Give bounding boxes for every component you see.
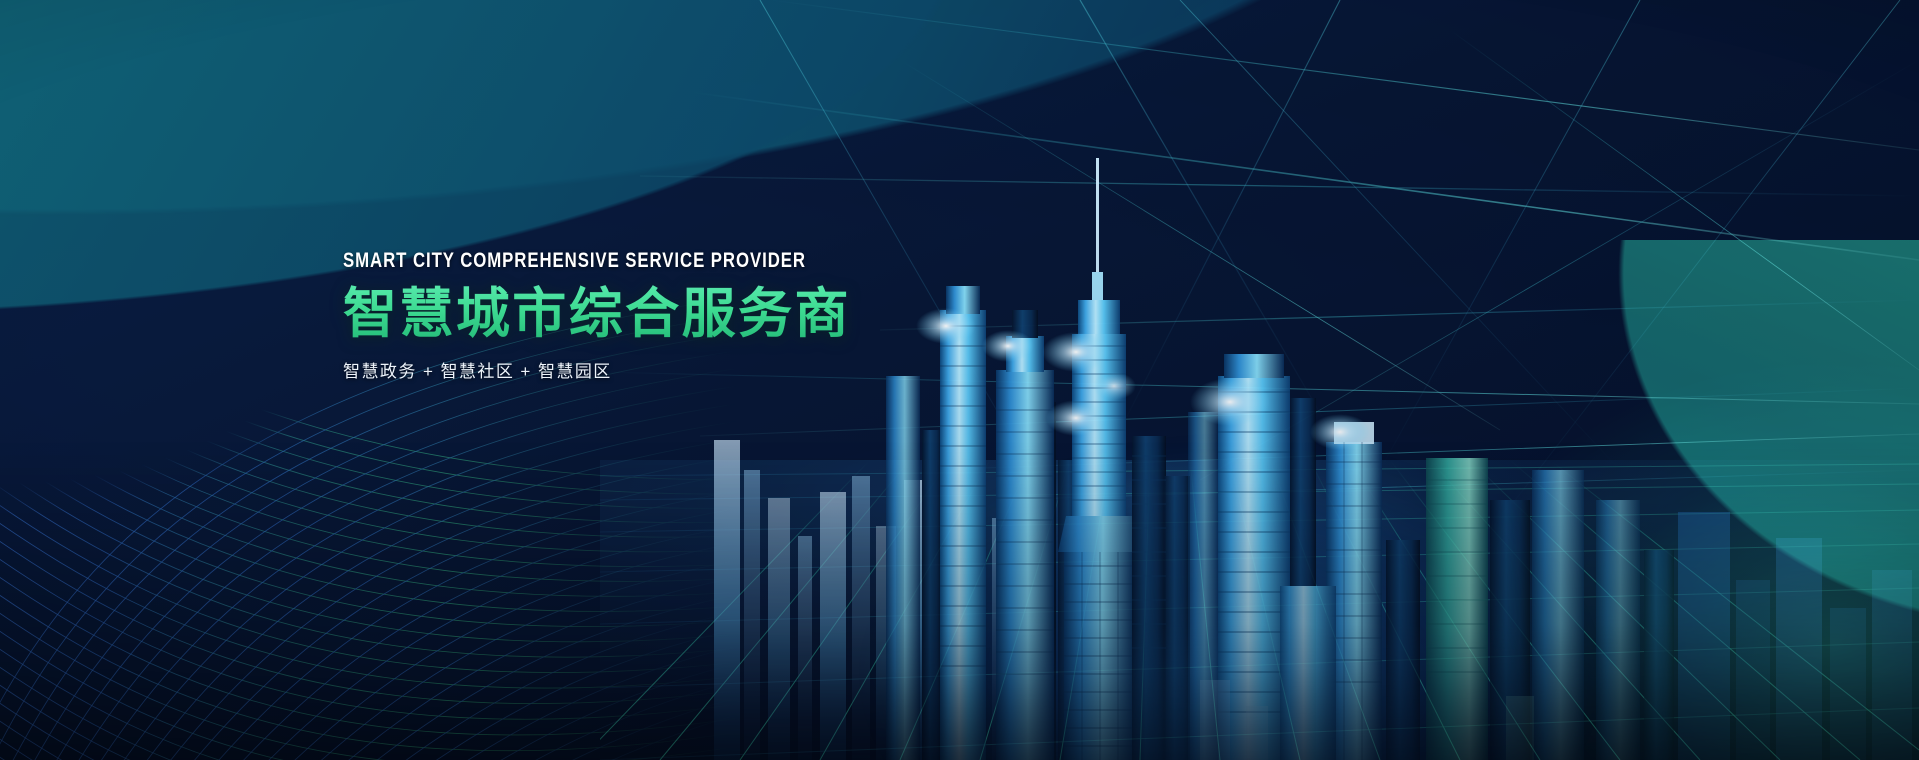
tower-spire-main [1042, 158, 1140, 760]
green-curve-overlay [1309, 240, 1919, 760]
hero-banner: SMART CITY COMPREHENSIVE SERVICE PROVIDE… [0, 0, 1919, 760]
hero-headline: 智慧城市综合服务商 [343, 284, 1103, 344]
hero-subtitle: 智慧政务 + 智慧社区 + 智慧园区 [343, 357, 1103, 382]
hero-eyebrow-text: SMART CITY COMPREHENSIVE SERVICE PROVIDE… [343, 250, 951, 272]
hero-text-block: SMART CITY COMPREHENSIVE SERVICE PROVIDE… [343, 250, 1103, 382]
